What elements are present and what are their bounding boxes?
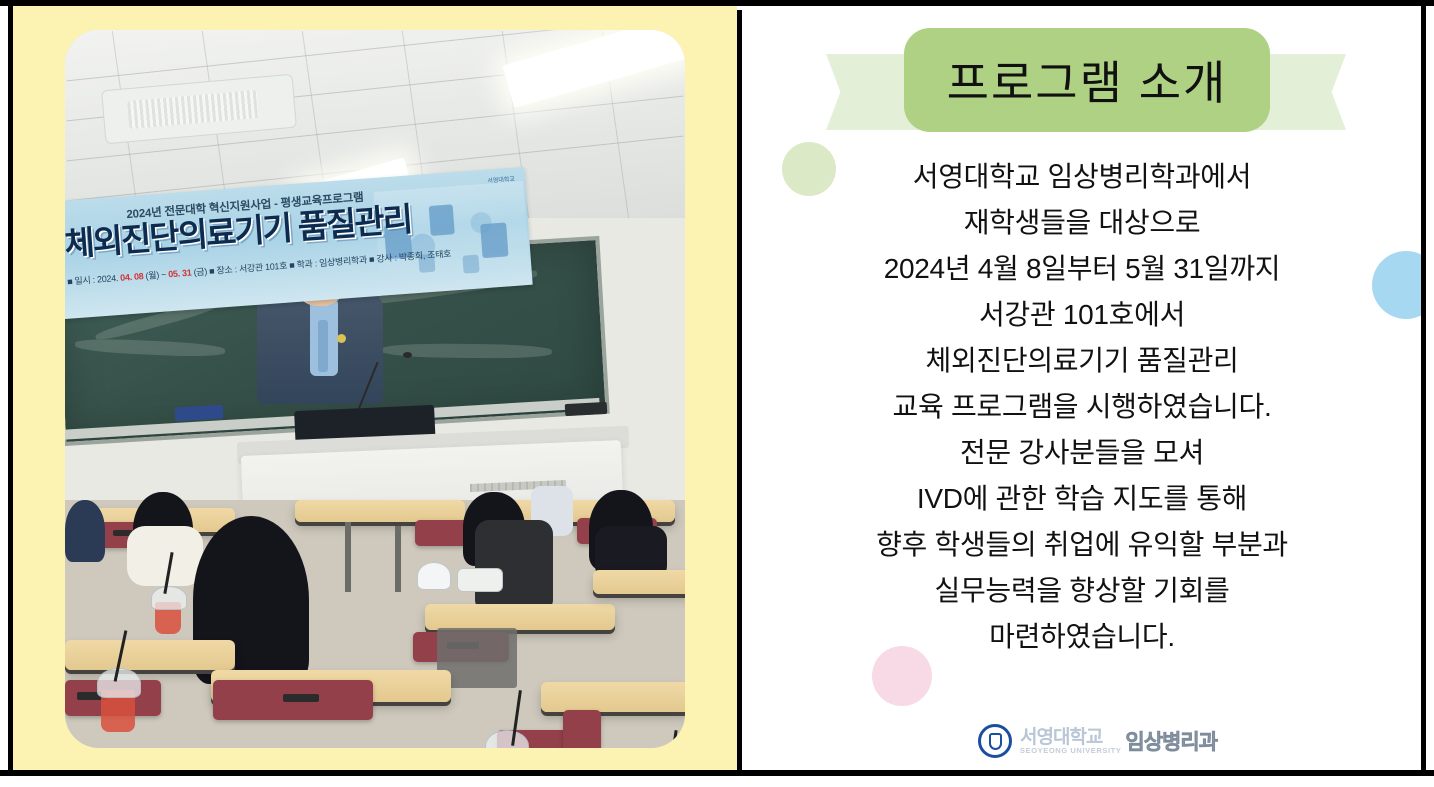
description-line: 2024년 4월 8일부터 5월 31일까지 bbox=[766, 246, 1398, 292]
description-line: 재학생들을 대상으로 bbox=[766, 200, 1398, 246]
lecturer-badge bbox=[337, 334, 346, 343]
description-line: 서영대학교 임상병리학과에서 bbox=[766, 154, 1398, 200]
description-line: 마련하였습니다. bbox=[766, 614, 1398, 660]
phone-on-ledge bbox=[565, 402, 608, 416]
university-wordmark: 서영대학교 SEOYEONG UNIVERSITY bbox=[1020, 728, 1121, 755]
banner-date-end-day: (금) bbox=[193, 266, 207, 277]
student-jacket bbox=[127, 526, 203, 586]
desk bbox=[425, 604, 615, 630]
description-line: 실무능력을 향상할 기회를 bbox=[766, 568, 1398, 614]
frame-border-right bbox=[1421, 6, 1426, 770]
photo-scene: 서영대학교 2024년 전문대학 혁신지원사업 - 평생교육프로그램 체외진단의… bbox=[65, 30, 685, 748]
university-emblem-icon bbox=[978, 724, 1012, 758]
desk bbox=[593, 570, 685, 594]
microphone-head bbox=[403, 352, 412, 358]
banner-date-end: 05. 31 bbox=[168, 268, 192, 280]
ribbon-banner: 프로그램 소개 bbox=[826, 28, 1346, 138]
banner-date-start-day: (월) bbox=[145, 270, 159, 281]
poster-page: 서영대학교 2024년 전문대학 혁신지원사업 - 평생교육프로그램 체외진단의… bbox=[0, 0, 1434, 787]
left-panel: 서영대학교 2024년 전문대학 혁신지원사업 - 평생교육프로그램 체외진단의… bbox=[13, 6, 737, 770]
cup-lid bbox=[151, 586, 187, 610]
desk bbox=[295, 500, 465, 522]
chair bbox=[563, 710, 601, 748]
department-name: 임상병리과 bbox=[1125, 726, 1217, 756]
banner-date-start: 04. 08 bbox=[120, 271, 144, 283]
university-logo: 서영대학교 SEOYEONG UNIVERSITY 임상병리과 bbox=[978, 720, 1248, 762]
description-line: IVD에 관한 학습 지도를 통해 bbox=[766, 476, 1398, 522]
section-title: 프로그램 소개 bbox=[904, 28, 1270, 132]
description-line: 체외진단의료기기 품질관리 bbox=[766, 338, 1398, 384]
desk bbox=[65, 640, 235, 670]
desk bbox=[541, 682, 685, 712]
banner-info-prefix: ■ 일시 : 2024. bbox=[67, 273, 119, 287]
chalk-box bbox=[175, 405, 224, 422]
description-line: 향후 학생들의 취업에 유익할 부분과 bbox=[766, 522, 1398, 568]
paper-bag bbox=[457, 568, 503, 592]
cup-lid bbox=[97, 668, 141, 698]
university-name-kr: 서영대학교 bbox=[1020, 728, 1121, 747]
lecturer-tie bbox=[318, 320, 328, 372]
university-name-en: SEOYEONG UNIVERSITY bbox=[1020, 747, 1121, 755]
classroom-photo: 서영대학교 2024년 전문대학 혁신지원사업 - 평생교육프로그램 체외진단의… bbox=[65, 30, 685, 748]
description-line: 전문 강사분들을 모셔 bbox=[766, 430, 1398, 476]
frame-border-bottom bbox=[0, 770, 1434, 776]
right-panel: 프로그램 소개 서영대학교 임상병리학과에서 재학생들을 대상으로 2024년 … bbox=[742, 6, 1421, 770]
backpack bbox=[475, 520, 553, 610]
program-description: 서영대학교 임상병리학과에서 재학생들을 대상으로 2024년 4월 8일부터 … bbox=[766, 154, 1398, 660]
tissue-roll bbox=[417, 562, 451, 590]
student bbox=[65, 500, 105, 562]
description-line: 서강관 101호에서 bbox=[766, 292, 1398, 338]
description-line: 교육 프로그램을 시행하였습니다. bbox=[766, 384, 1398, 430]
